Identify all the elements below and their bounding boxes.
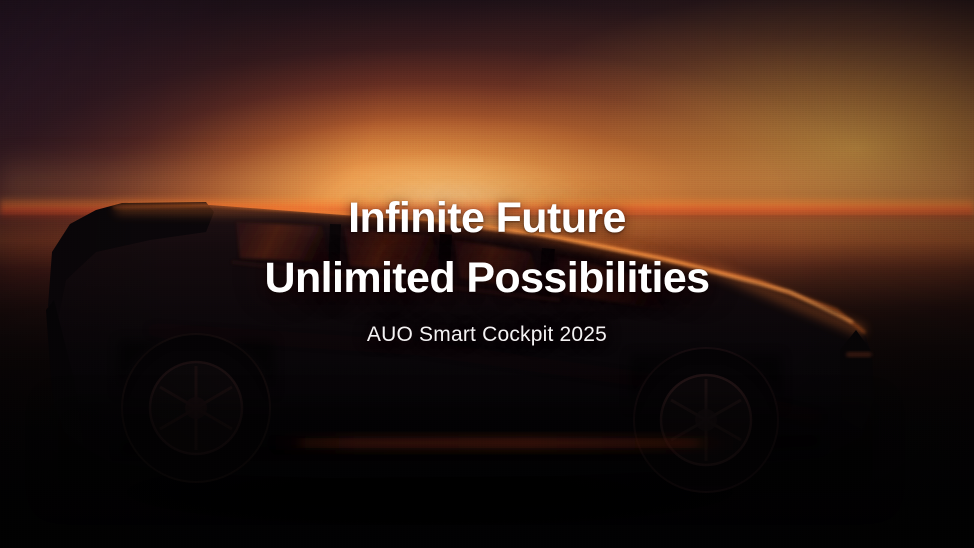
headline-line-2: Unlimited Possibilities bbox=[0, 248, 974, 308]
headline-line-1: Infinite Future bbox=[0, 188, 974, 248]
front-wheel bbox=[634, 348, 778, 492]
hero-copy: Infinite Future Unlimited Possibilities … bbox=[0, 188, 974, 348]
subtitle: AUO Smart Cockpit 2025 bbox=[0, 322, 974, 348]
hero-banner: Infinite Future Unlimited Possibilities … bbox=[0, 0, 974, 548]
rear-wheel bbox=[122, 334, 270, 482]
